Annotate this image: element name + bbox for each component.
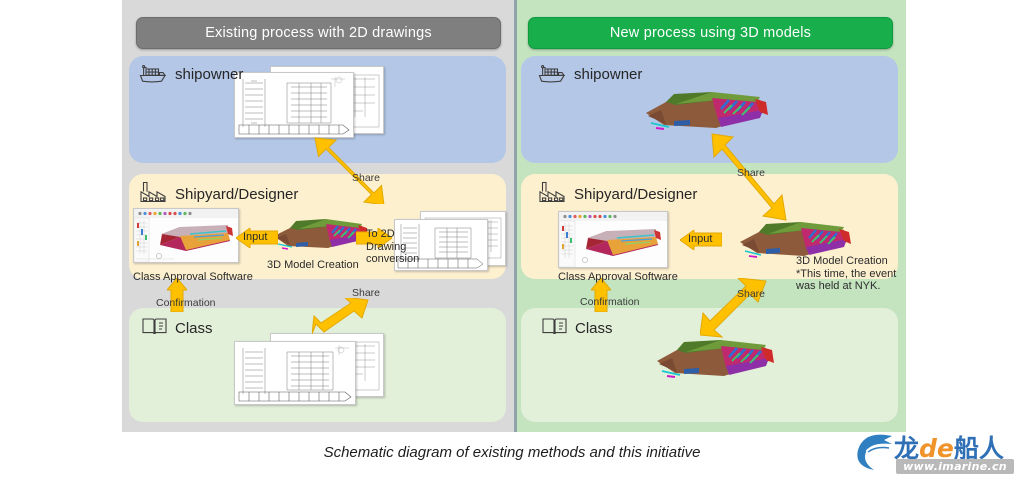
new-process-header-label: New process using 3D models <box>610 25 811 41</box>
new-shipowner-3d-model <box>638 88 768 138</box>
book-icon <box>541 315 568 342</box>
existing-class-label: Class <box>175 320 213 337</box>
existing-class-drawings <box>234 333 386 413</box>
new-3d-model-note-line-2: was held at NYK. <box>796 280 896 293</box>
new-share-top-label: Share <box>737 167 765 179</box>
new-shipyard-header: Shipyard/Designer <box>537 179 697 209</box>
new-share-bottom-label: Share <box>737 288 765 300</box>
existing-shipowner-header: shipowner <box>138 60 243 89</box>
new-shipowner-label: shipowner <box>574 66 642 83</box>
new-3d-model-note: 3D Model Creation *This time, the event … <box>796 255 896 293</box>
new-class-approval-software-thumb <box>558 211 666 266</box>
factory-icon <box>138 179 168 209</box>
existing-process-header: Existing process with 2D drawings <box>136 17 501 49</box>
new-class-header: Class <box>541 315 613 342</box>
new-share-arrow-bottom <box>700 278 768 338</box>
existing-3d-model-render <box>268 216 368 258</box>
book-icon <box>141 315 168 342</box>
to2d-line-1: To 2D <box>366 228 419 241</box>
new-confirmation-label: Confirmation <box>580 296 640 308</box>
ship-icon <box>138 60 168 89</box>
existing-confirmation-label: Confirmation <box>156 297 216 309</box>
existing-shipowner-label: shipowner <box>175 66 243 83</box>
diagram-canvas: Existing process with 2D drawings New pr… <box>0 0 1024 486</box>
new-3d-model-note-line-1: *This time, the event <box>796 268 896 281</box>
new-3d-model-label: 3D Model Creation <box>796 255 896 268</box>
existing-to2d-label: To 2D Drawing conversion <box>366 228 419 266</box>
new-class-software-label: Class Approval Software <box>558 271 678 283</box>
watermark: 龙de船人 www.imarine.cn <box>852 428 1018 480</box>
to2d-line-3: conversion <box>366 253 419 266</box>
factory-icon <box>537 179 567 209</box>
existing-class-approval-software-thumb <box>133 208 237 261</box>
existing-share-arrow-bottom <box>312 298 370 334</box>
new-input-label: Input <box>688 233 712 246</box>
existing-class-header: Class <box>141 315 213 342</box>
existing-3d-model-label: 3D Model Creation <box>267 259 359 271</box>
watermark-url: www.imarine.cn <box>896 459 1014 474</box>
new-shipowner-header: shipowner <box>537 60 642 89</box>
new-class-3d-model <box>650 337 774 385</box>
to2d-line-2: Drawing <box>366 241 419 254</box>
existing-share-arrow-top <box>312 134 390 204</box>
existing-shipyard-header: Shipyard/Designer <box>138 179 298 209</box>
ship-icon <box>537 60 567 89</box>
existing-shipyard-label: Shipyard/Designer <box>175 186 298 203</box>
new-process-header: New process using 3D models <box>528 17 893 49</box>
existing-share-top-label: Share <box>352 172 380 184</box>
existing-share-bottom-label: Share <box>352 287 380 299</box>
existing-process-header-label: Existing process with 2D drawings <box>205 25 432 41</box>
new-shipyard-label: Shipyard/Designer <box>574 186 697 203</box>
new-class-label: Class <box>575 320 613 337</box>
existing-input-label: Input <box>243 231 267 244</box>
existing-class-software-label: Class Approval Software <box>133 271 253 283</box>
